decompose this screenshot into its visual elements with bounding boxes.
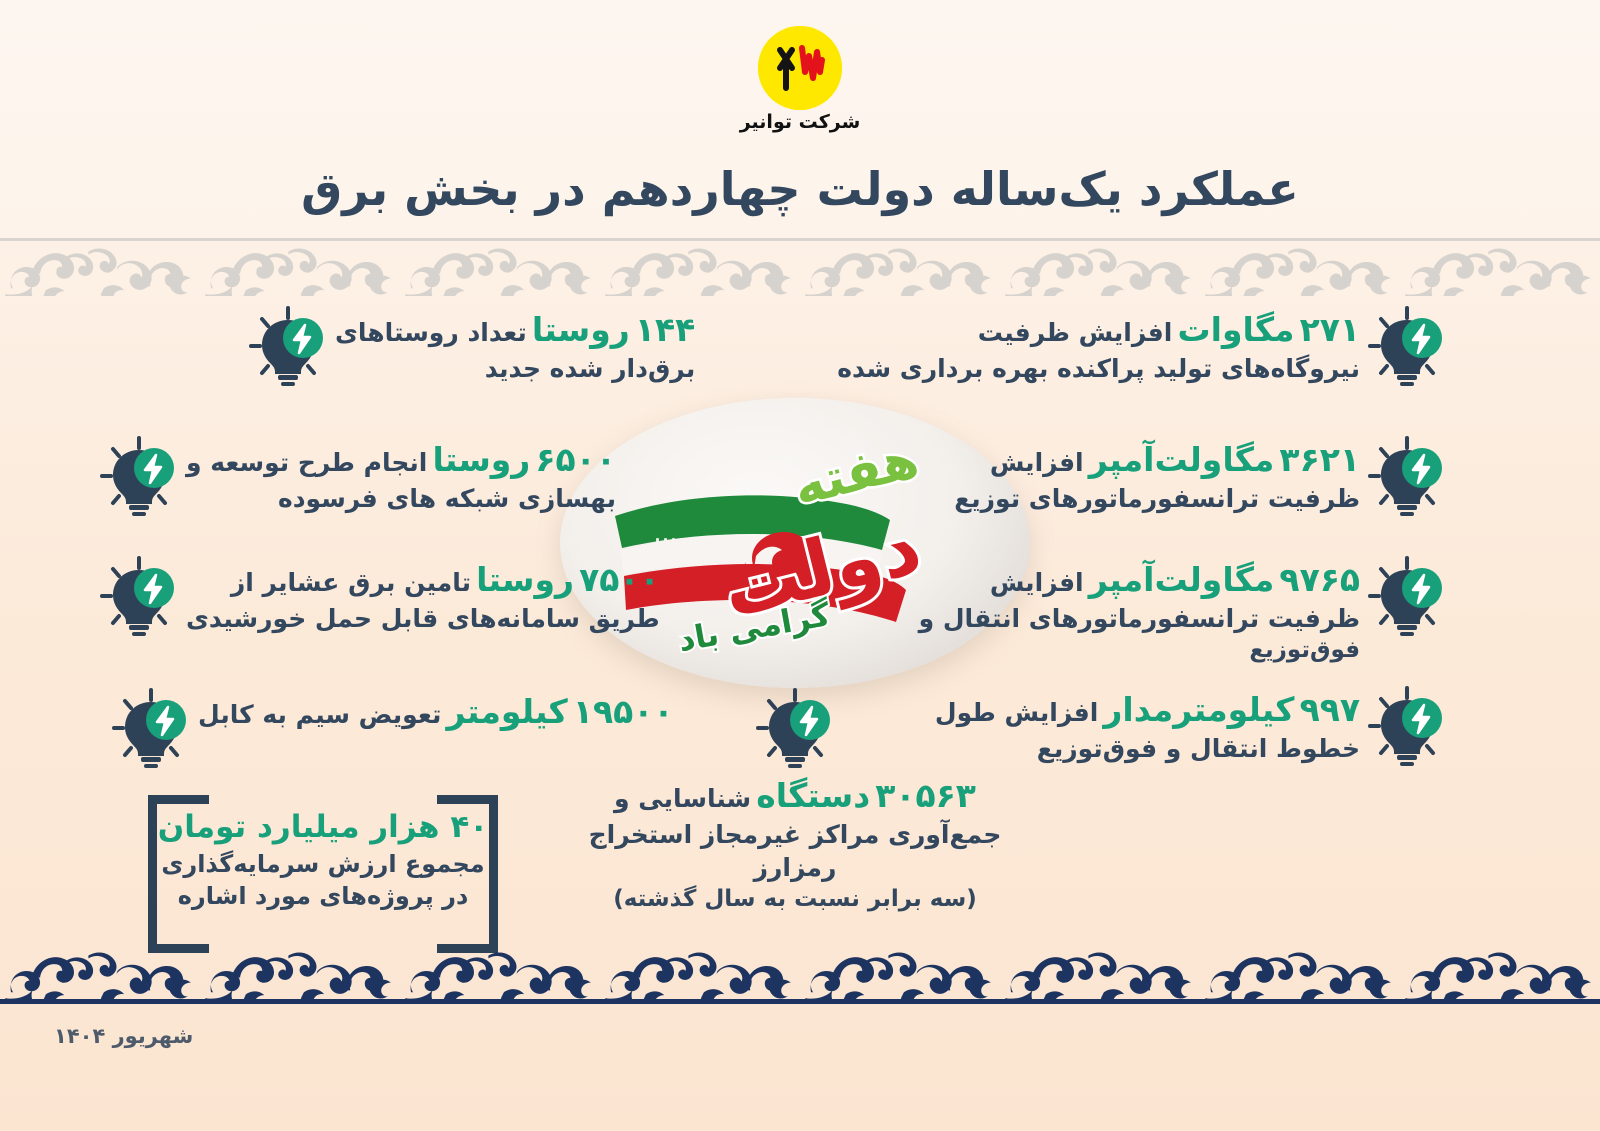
stat-desc-inline: تامین برق عشایر از [231,568,471,597]
stat-desc-inline: افزایش [990,448,1084,477]
lightbulb-bolt-icon [245,304,331,390]
stat-bulb-icon [245,304,331,390]
stat-desc-line3: فوق‌توزیع [919,635,1360,665]
header: شرکت توانیر عملکرد یک‌ساله دولت چهاردهم … [0,0,1600,238]
tavanir-logo-icon [758,26,842,110]
investment-desc-line2: در پروژه‌های مورد اشاره [148,880,498,912]
stat-text: ۶۵۰۰ روستا انجام طرح توسعه وبهسازی شبکه … [186,438,616,515]
stat-desc-inline: افزایش ظرفیت [978,318,1173,347]
lightbulb-bolt-icon [1364,684,1450,770]
stat-number: ۳۰۵۶۳ [875,776,976,815]
stat-unit: کیلومترمدار [1103,690,1294,729]
stat-desc-line2: برق‌دار شده جدید [335,352,695,385]
lightbulb-bolt-icon [96,554,182,640]
stat-unit: مگاولت‌آمپر [1089,440,1275,479]
stat-unit: روستا [532,310,630,349]
stat-bulb-icon [1364,554,1450,640]
stat-desc-line2: طریق سامانه‌های قابل حمل خورشیدی [186,602,660,635]
ornament-border-bottom [0,942,1600,1004]
lightbulb-bolt-icon [1364,434,1450,520]
lightbulb-bolt-icon [96,434,182,520]
stat-desc-line2: نیروگاه‌های تولید پراکنده بهره برداری شد… [837,352,1360,385]
stat-number: ۹۹۷ [1300,690,1360,729]
lightbulb-bolt-icon [1364,554,1450,640]
stat-desc-inline: تعویض سیم به کابل [198,700,441,729]
stat-number: ۹۷۶۵ [1279,560,1360,599]
tavanir-logo-caption: شرکت توانیر [725,112,875,133]
stat-desc-line2: بهسازی شبکه های فرسوده [186,482,616,515]
lightbulb-bolt-icon [752,686,838,772]
infographic-page: شرکت توانیر عملکرد یک‌ساله دولت چهاردهم … [0,0,1600,1131]
stat-item-right-3: ۹۷۶۵ مگاولت‌آمپر افزایشظرفیت ترانسفورمات… [919,558,1450,665]
stat-desc-line2: ظرفیت ترانسفورماتورهای انتقال و [919,602,1360,635]
stat-bulb-icon [96,554,182,640]
stat-desc-inline: افزایش [990,568,1084,597]
stat-number: ۳۶۲۱ [1279,440,1360,479]
stat-unit: کیلومتر [446,692,567,731]
stat-unit: مگاولت‌آمپر [1089,560,1275,599]
stat-item-right-1: ۲۷۱ مگاوات افزایش ظرفیتنیروگاه‌های تولید… [837,308,1450,390]
stat-unit: مگاوات [1177,310,1294,349]
stat-unit: دستگاه [756,776,870,815]
stat-bulb-icon [752,686,838,772]
stat-text: ۱۴۴ روستا تعداد روستاهایبرق‌دار شده جدید [335,308,695,385]
footer-date: شهریور ۱۴۰۴ [54,1024,193,1048]
stat-item-left-1: ۱۴۴ روستا تعداد روستاهایبرق‌دار شده جدید [245,308,695,390]
ornament-border-top [0,238,1600,296]
lightbulb-bolt-icon [1364,304,1450,390]
stat-desc-inline: تعداد روستاهای [335,318,527,347]
stat-number: ۱۴۴ [635,310,695,349]
stat-unit: روستا [432,440,530,479]
stat-text: ۳۶۲۱ مگاولت‌آمپر افزایشظرفیت ترانسفورمات… [954,438,1360,515]
stat-number: ۲۷۱ [1300,310,1360,349]
investment-amount: ۴۰ هزار میلیارد تومان [148,809,498,845]
stat-desc-line2: جمع‌آوری مراکز غیرمجاز استخراج رمزارز [560,818,1030,884]
investment-highlight-box: ۴۰ هزار میلیارد تومان مجموع ارزش سرمایه‌… [148,795,498,935]
stat-desc-inline: انجام طرح توسعه و [186,448,427,477]
stat-item-right-2: ۳۶۲۱ مگاولت‌آمپر افزایشظرفیت ترانسفورمات… [954,438,1450,520]
stat-desc-line2: ظرفیت ترانسفورماتورهای توزیع [954,482,1360,515]
stat-bulb-icon [1364,684,1450,770]
stat-text: ۷۵۰۰ روستا تامین برق عشایر ازطریق سامانه… [186,558,660,635]
stat-unit: روستا [476,560,574,599]
stat-desc-inline: شناسایی و [614,784,751,813]
stat-item-center: ۳۰۵۶۳ دستگاه شناسایی وجمع‌آوری مراکز غیر… [560,690,1030,914]
stat-number: ۶۵۰۰ [535,440,616,479]
stat-bulb-icon [108,686,194,772]
stat-desc-line3: (سه برابر نسبت به سال گذشته) [560,884,1030,914]
stat-bulb-icon [1364,304,1450,390]
stat-text: ۲۷۱ مگاوات افزایش ظرفیتنیروگاه‌های تولید… [837,308,1360,385]
stat-bulb-icon [96,434,182,520]
stat-text: ۳۰۵۶۳ دستگاه شناسایی وجمع‌آوری مراکز غیر… [560,774,1030,914]
stat-bulb-icon [1364,434,1450,520]
tavanir-logo: شرکت توانیر [725,26,875,146]
stat-item-left-3: ۷۵۰۰ روستا تامین برق عشایر ازطریق سامانه… [96,558,660,640]
stat-text: ۹۷۶۵ مگاولت‌آمپر افزایشظرفیت ترانسفورمات… [919,558,1360,665]
stat-item-left-2: ۶۵۰۰ روستا انجام طرح توسعه وبهسازی شبکه … [96,438,616,520]
lightbulb-bolt-icon [108,686,194,772]
investment-desc-line1: مجموع ارزش سرمایه‌گذاری [148,848,498,880]
stat-number: ۷۵۰۰ [579,560,660,599]
page-title: عملکرد یک‌ساله دولت چهاردهم در بخش برق [0,162,1600,216]
